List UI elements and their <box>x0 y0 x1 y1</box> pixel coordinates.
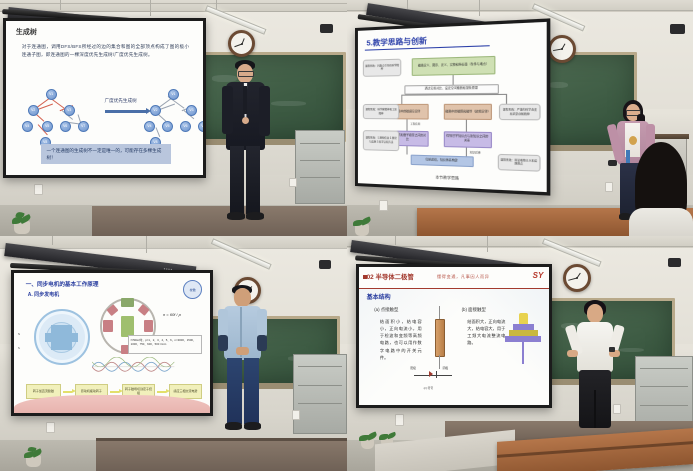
slide-paragraph: 对于连通图，调用DFS/BFS所经过的边的集合和图的全部顶点构成了图的极小连通子… <box>22 43 189 59</box>
panel-top-right: ●●●● 5.教学思路与创新 磁路定义、图示、定义、实物和特征量（条件与难点） <box>347 0 693 236</box>
stator-diagram <box>34 309 90 365</box>
slide-title: 5.教学思路与创新 <box>366 35 426 49</box>
wall-speaker <box>319 260 331 269</box>
wall-speaker <box>320 24 333 33</box>
slide-note: 一个连通图的生成树不一定是唯一的，可能存在多棵生成树！ <box>41 144 171 165</box>
stage-platform <box>96 439 347 471</box>
symbol-caption: (c) 符号 <box>424 386 434 390</box>
presenter-male-blue-shirt <box>216 285 270 437</box>
edge-label-2: 知识迁移 <box>470 149 481 154</box>
formula: n = 60f / p <box>163 312 181 317</box>
waveform-diagram <box>92 357 174 377</box>
panel-bottom-left: ●●●● 一、同步电机的基本工作原理 A. 同步发电机 校徽 <box>0 236 347 471</box>
equipment-cabinet <box>295 130 345 204</box>
seated-student <box>629 142 693 236</box>
wall-clock <box>228 30 255 57</box>
flow-node-4: 磁路中的磁阻和磁导（欧姆定律） <box>443 104 491 120</box>
slide-title: 生成树 <box>16 27 37 37</box>
flow-node-7: 归纳总结，知识体系构建 <box>410 154 474 167</box>
presenter-remote <box>608 160 617 166</box>
panel-bottom-right: ●●●● <box>347 236 693 471</box>
flow-node-1: 磁路定义、图示、定义、实物和特征量（条件与难点） <box>412 56 495 76</box>
slide-spanning-tree: 生成树 对于连通图，调用DFS/BFS所经过的边的集合和图的全部顶点构成了图的极… <box>6 21 203 175</box>
column-a-text: 结面积小，结电容小，正向电流小，用于检波和变频等高频电路，也可以用作数字电路中的… <box>380 318 422 361</box>
side-note-5: 课程思政：辩证唯物主义和实践观点 <box>497 153 540 171</box>
school-logo: SY <box>533 271 544 280</box>
projection-screen: 生成树 对于连通图，调用DFS/BFS所经过的边的集合和图的全部顶点构成了图的极… <box>3 18 206 178</box>
photo-collage: ●●●● 生成树 对于连通图，调用 <box>0 0 693 471</box>
column-b-text: 结面积大，正向电流大，结电容大，用于工频大电流整流电路。 <box>467 318 505 347</box>
arrow-label: 广度优先生成树 <box>105 98 137 104</box>
chapter-title: 02 半导体二极管 <box>367 272 414 281</box>
flow-node-6: 得到已学知识点与新知识之间的关系 <box>443 131 491 148</box>
school-motto: 懂得变通，凡事因人而异 <box>437 274 490 280</box>
parameter-box: f=50Hz时，p=1、2、3、4、5、6，n=3000、1500、1000、7… <box>128 335 202 355</box>
slide-caption: 本节教学思路 <box>358 172 547 185</box>
wristwatch <box>609 347 615 352</box>
projection-screen: 02 半导体二极管 懂得变通，凡事因人而异 SY 基本结构 (a) 点接触型 结… <box>356 264 552 408</box>
side-note-4: 课程思政：严谨的科学态度和求是创新精神 <box>499 104 540 121</box>
side-note-1: 课程思政：兴趣点引导和科学精神 <box>363 59 401 77</box>
presenter-male-suit <box>218 60 274 225</box>
wall-speaker <box>668 258 681 267</box>
slide-title: 一、同步电机的基本工作原理 <box>26 280 99 288</box>
section-title: 基本结构 <box>367 292 391 301</box>
equipment-cabinet <box>293 354 347 434</box>
column-b-title: (b) 面接触型 <box>462 307 486 313</box>
projection-screen: 一、同步电机的基本工作原理 A. 同步发电机 校徽 N S <box>11 270 213 416</box>
cathode-label: 阴极 <box>443 366 449 370</box>
side-note-3: 课程思政：1.理想信念 2.理论与实践 3.科学认知方法 <box>363 130 399 151</box>
slide-teaching-approach: 5.教学思路与创新 磁路定义、图示、定义、实物和特征量（条件与难点） 通过实验对… <box>358 22 547 192</box>
slide-subtitle: A. 同步发电机 <box>28 291 59 298</box>
presenter-female-white-tee <box>569 300 621 440</box>
column-a-title: (a) 点接触型 <box>374 307 398 313</box>
edge-label-1: 工程应用 <box>410 121 420 125</box>
slide-semiconductor-diode: 02 半导体二极管 懂得变通，凡事因人而异 SY 基本结构 (a) 点接触型 结… <box>359 267 549 405</box>
wall-clock <box>548 35 576 63</box>
anode-label: 阳极 <box>410 366 416 370</box>
side-note-2: 课程思政：科学家精神和工匠精神 <box>363 104 399 120</box>
wall-clock <box>563 264 591 292</box>
projection-screen: 5.教学思路与创新 磁路定义、图示、定义、实物和特征量（条件与难点） 通过实验对… <box>355 18 550 195</box>
school-badge: 校徽 <box>183 280 202 299</box>
panel-top-left: ●●●● 生成树 对于连通图，调用 <box>0 0 347 236</box>
wall-speaker <box>670 24 685 34</box>
slide-synchronous-machine: 一、同步电机的基本工作原理 A. 同步发电机 校徽 N S <box>14 273 210 413</box>
